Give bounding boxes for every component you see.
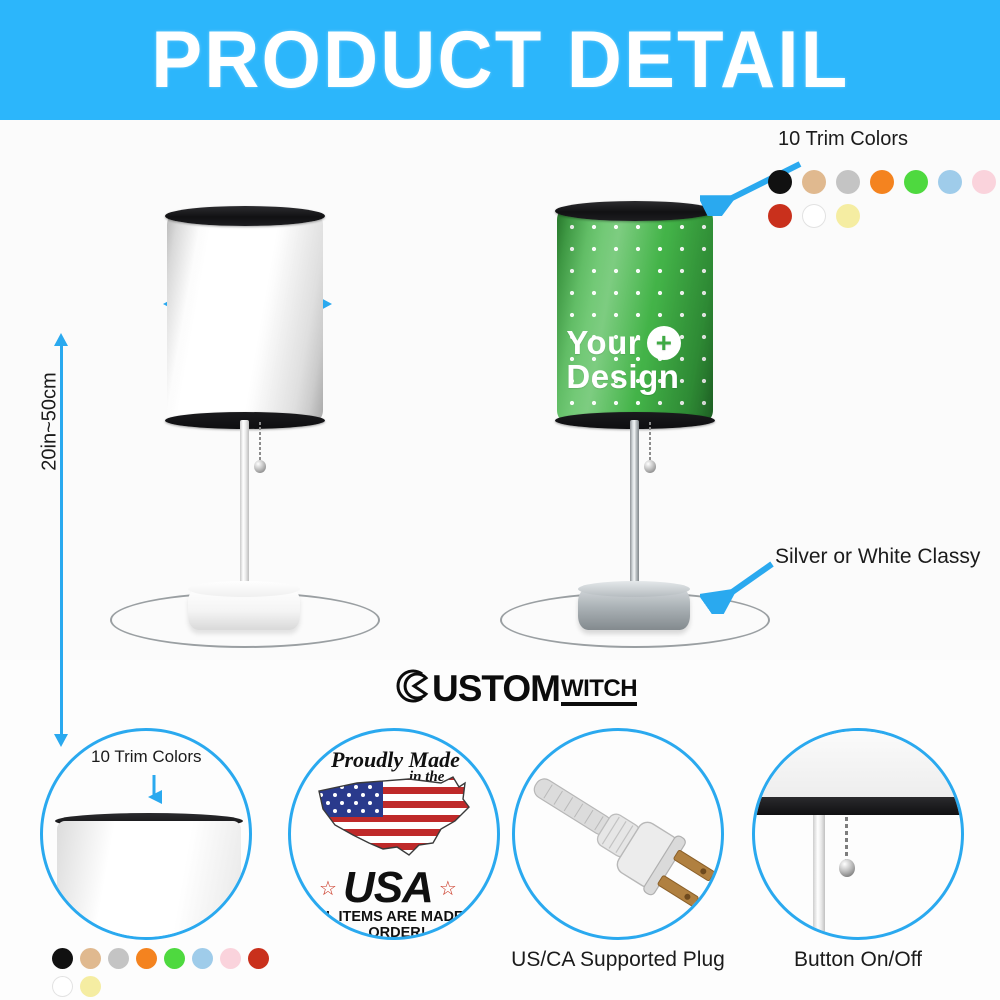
trim-color-swatch-light-blue[interactable] (192, 948, 213, 969)
base-finish-callout-label: Silver or White Classy (775, 545, 980, 569)
trim-color-swatch-tan[interactable] (802, 170, 826, 194)
plus-circle-icon: + (647, 326, 681, 360)
shade-surface: Your + Design (557, 210, 713, 420)
shade-bottom-zoom (755, 731, 964, 799)
page-title: PRODUCT DETAIL (151, 14, 849, 106)
trim-color-swatch-white[interactable] (52, 976, 73, 997)
lamp-base-silver (578, 588, 690, 630)
feature-trim-colors-label: 10 Trim Colors (91, 747, 202, 767)
trim-color-swatch-gray[interactable] (836, 170, 860, 194)
lamp-shade-white (167, 215, 323, 420)
usa-badge-footer: ALL ITEMS ARE MADE TO ORDER! (297, 909, 497, 940)
lamp-base-top (188, 581, 300, 597)
trim-color-swatch-tan[interactable] (80, 948, 101, 969)
product-detail-infographic: PRODUCT DETAIL 7in~18cm 20in~50cm (0, 0, 1000, 1000)
pull-chain-knob[interactable] (644, 460, 656, 473)
trim-color-swatch-pink[interactable] (972, 170, 996, 194)
trim-color-swatch-green[interactable] (904, 170, 928, 194)
trim-color-swatch-green[interactable] (164, 948, 185, 969)
shade-trim-top (555, 201, 715, 221)
shade-surface (167, 215, 323, 420)
feature-circle-trim-colors: 10 Trim Colors (40, 728, 252, 940)
feature-caption-switch: Button On/Off (742, 948, 974, 972)
usa-map-flag-icon (313, 773, 481, 859)
lamp-pole (630, 420, 639, 608)
design-line-2: Design (566, 360, 679, 393)
lamp-pole (240, 420, 249, 608)
lamp-pole-zoom (813, 815, 825, 940)
pull-chain[interactable] (259, 422, 261, 462)
header-banner: PRODUCT DETAIL (0, 0, 1000, 120)
custom-c-mark-icon (392, 666, 432, 706)
design-line-1: Your (566, 326, 641, 359)
down-arrow-icon (146, 773, 162, 807)
trim-color-swatch-black[interactable] (52, 948, 73, 969)
pull-chain-knob-zoom[interactable] (839, 859, 855, 877)
trim-color-swatch-yellow[interactable] (80, 976, 101, 997)
brand-logo-sub: WITCH (561, 678, 637, 706)
shade-gloss (167, 215, 323, 420)
height-dimension-label: 20in~50cm (39, 357, 62, 487)
lamp-base-top (578, 581, 690, 597)
brand-logo: USTOM WITCH (392, 666, 637, 706)
usa-badge-country: USA (343, 863, 433, 913)
shade-trim-zoom (755, 797, 964, 815)
pull-chain-knob[interactable] (254, 460, 266, 473)
trim-color-swatch-gray[interactable] (108, 948, 129, 969)
brand-logo-main: USTOM (432, 671, 560, 706)
feature-circle-usa: Proudly Made in the (288, 728, 500, 940)
trim-color-swatch-yellow[interactable] (836, 204, 860, 228)
pull-chain[interactable] (649, 422, 651, 462)
trim-color-swatch-orange[interactable] (136, 948, 157, 969)
power-plug-icon (515, 731, 724, 940)
lamp-base-white (188, 588, 300, 630)
lamp-shade-green: Your + Design (557, 210, 713, 420)
trim-color-swatch-orange[interactable] (870, 170, 894, 194)
pull-chain-zoom[interactable] (845, 817, 848, 863)
trim-color-swatch-black[interactable] (768, 170, 792, 194)
feature-circle-switch (752, 728, 964, 940)
trim-color-swatch-light-blue[interactable] (938, 170, 962, 194)
star-left-icon: ☆ (319, 876, 337, 901)
feature-circle-plug (512, 728, 724, 940)
usa-badge-country-row: ☆ USA ☆ (319, 863, 457, 913)
trim-color-swatches-bottom (52, 948, 277, 997)
trim-color-swatch-white[interactable] (802, 204, 826, 228)
lamp-showcase-area: 7in~18cm 20in~50cm (0, 120, 1000, 660)
trim-color-swatches-top (768, 170, 1000, 228)
your-design-text: Your + Design (566, 326, 681, 393)
shade-surface-zoom (57, 821, 241, 940)
star-right-icon: ☆ (439, 876, 457, 901)
feature-caption-plug: US/CA Supported Plug (502, 948, 734, 972)
shade-trim-top (165, 206, 325, 226)
base-finish-arrow-icon (700, 558, 778, 614)
trim-color-swatch-red[interactable] (248, 948, 269, 969)
trim-color-swatch-pink[interactable] (220, 948, 241, 969)
trim-colors-callout-label: 10 Trim Colors (778, 128, 908, 151)
trim-color-swatch-red[interactable] (768, 204, 792, 228)
